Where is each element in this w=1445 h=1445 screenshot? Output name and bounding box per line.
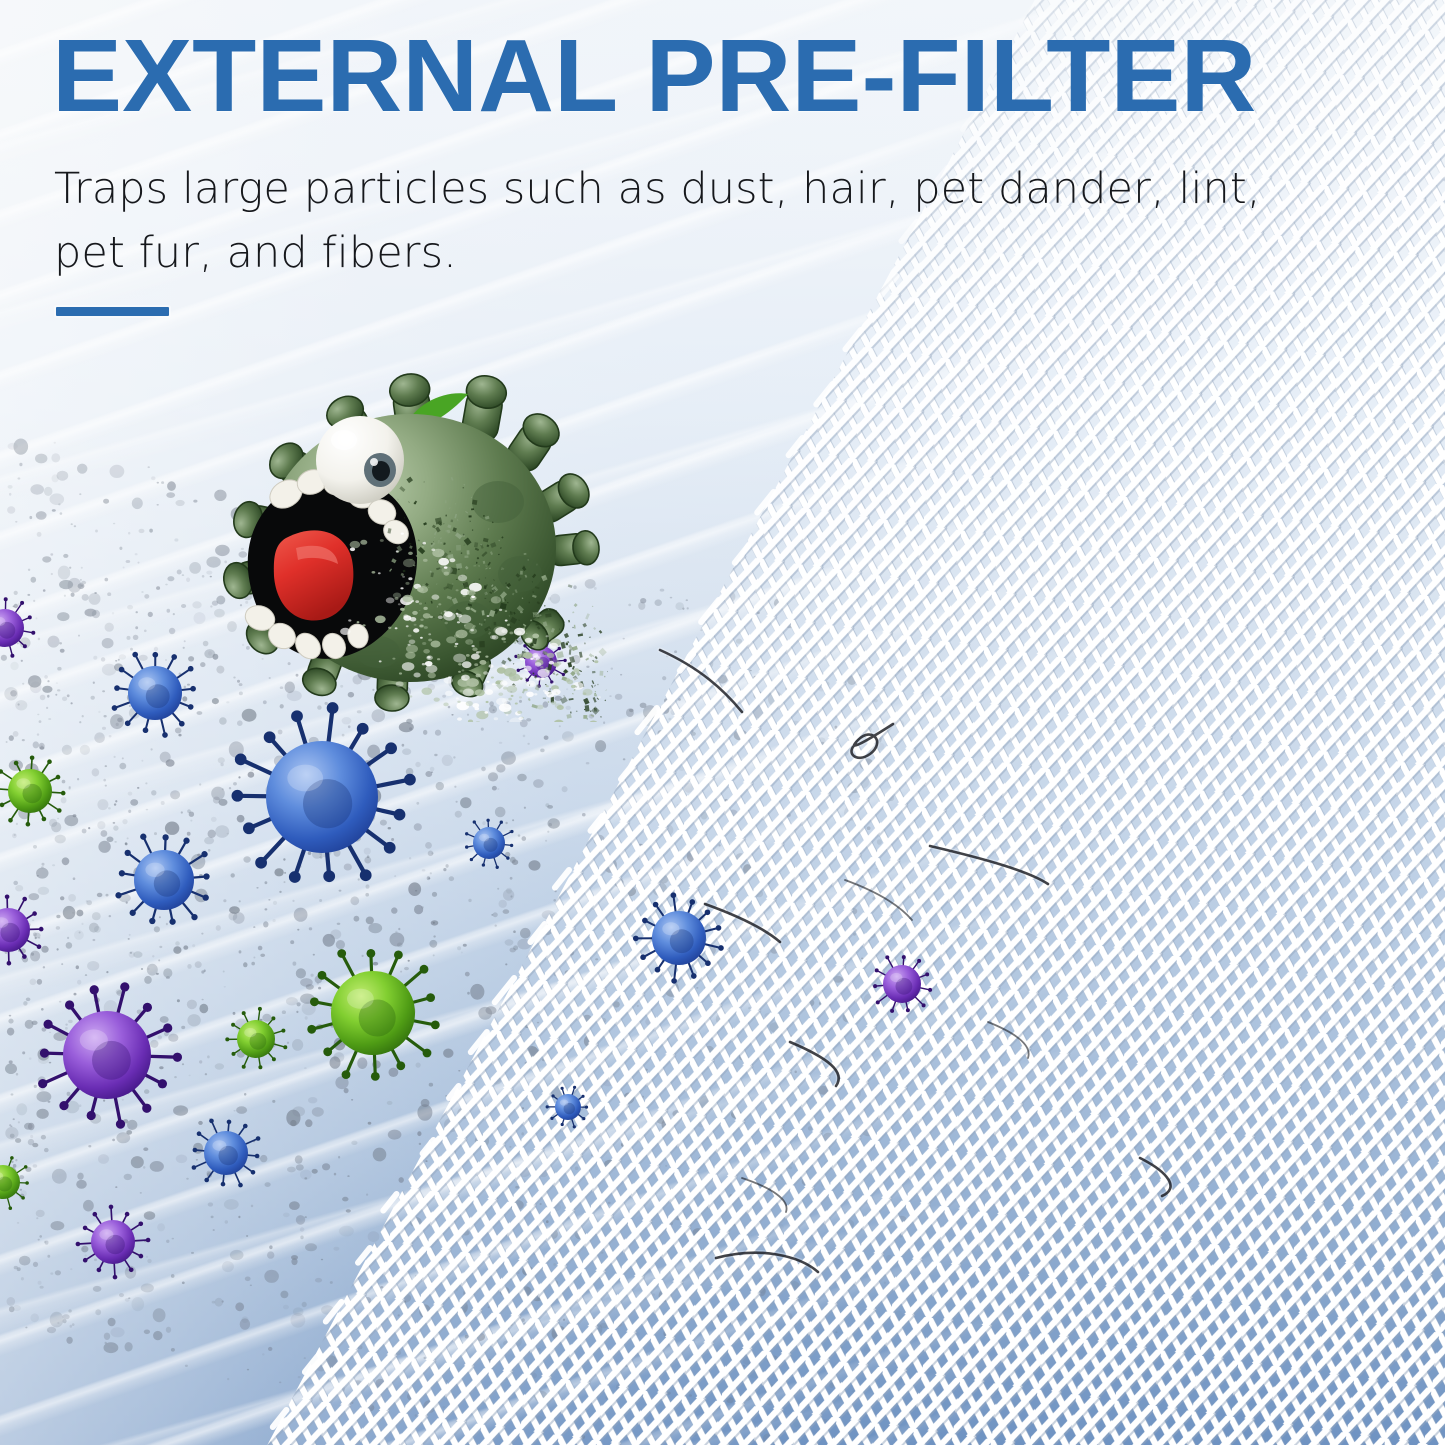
pre-filter-infographic: EXTERNAL PRE-FILTER Traps large particle… xyxy=(0,0,1445,1445)
green-virus-monster xyxy=(168,352,608,722)
monster-eye xyxy=(316,416,404,504)
blue-accent-bar xyxy=(56,307,169,316)
monster-tongue xyxy=(274,530,354,620)
page-subtitle: Traps large particles such as dust, hair… xyxy=(54,158,1269,285)
page-title: EXTERNAL PRE-FILTER xyxy=(52,24,1317,127)
